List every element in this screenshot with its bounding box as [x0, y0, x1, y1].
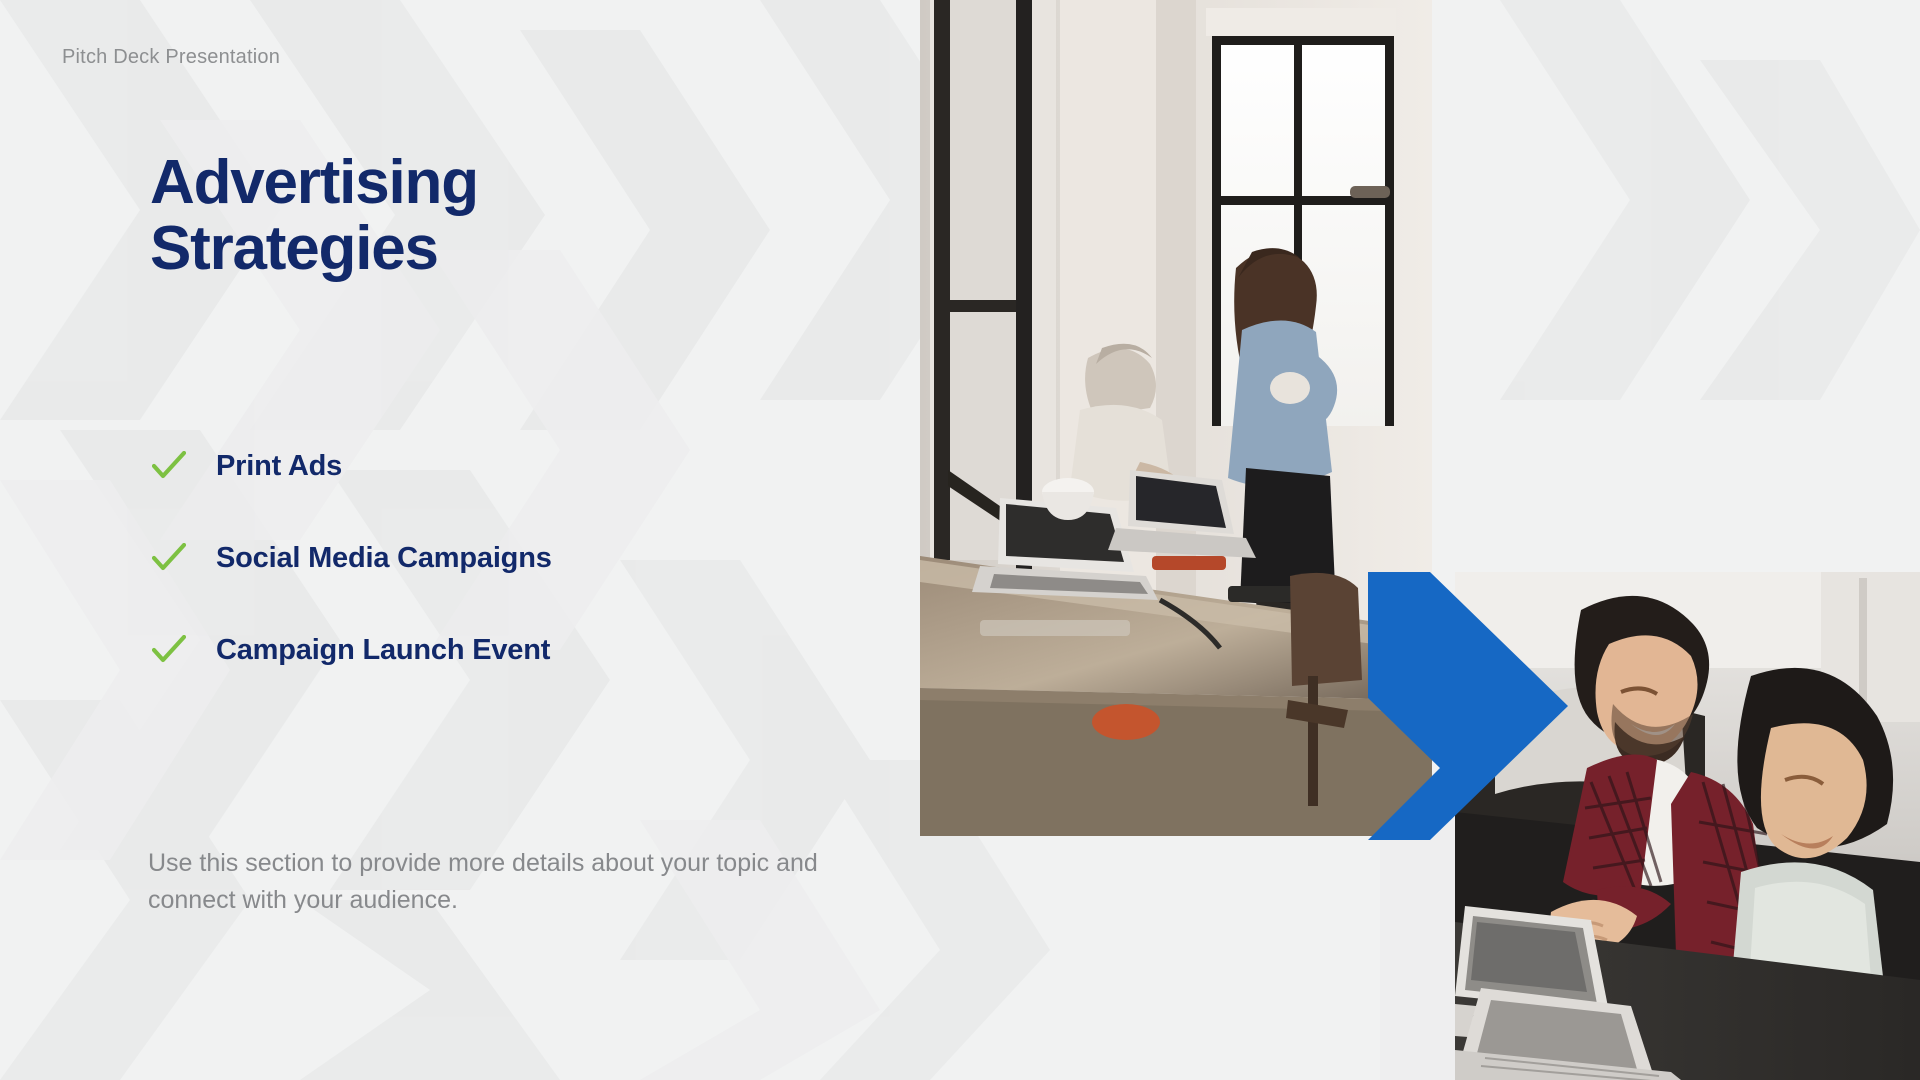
page-title: Advertising Strategies [150, 150, 478, 283]
check-icon [150, 635, 188, 665]
list-item-label: Print Ads [216, 450, 342, 483]
page-title-line-2: Strategies [150, 216, 478, 282]
list-item[interactable]: Campaign Launch Event [150, 604, 870, 696]
list-item[interactable]: Print Ads [150, 420, 870, 512]
slide-root: Pitch Deck Presentation Advertising Stra… [0, 0, 1920, 1080]
slide-eyebrow: Pitch Deck Presentation [62, 46, 280, 69]
body-copy: Use this section to provide more details… [148, 845, 868, 919]
check-icon [150, 451, 188, 481]
blue-chevron-arrow [1368, 572, 1568, 840]
page-title-line-1: Advertising [150, 150, 478, 216]
list-item[interactable]: Social Media Campaigns [150, 512, 870, 604]
strategy-list: Print Ads Social Media Campaigns Campaig… [150, 420, 870, 696]
list-item-label: Campaign Launch Event [216, 634, 550, 667]
list-item-label: Social Media Campaigns [216, 542, 552, 575]
office-workspace-photo [920, 0, 1432, 836]
check-icon [150, 543, 188, 573]
